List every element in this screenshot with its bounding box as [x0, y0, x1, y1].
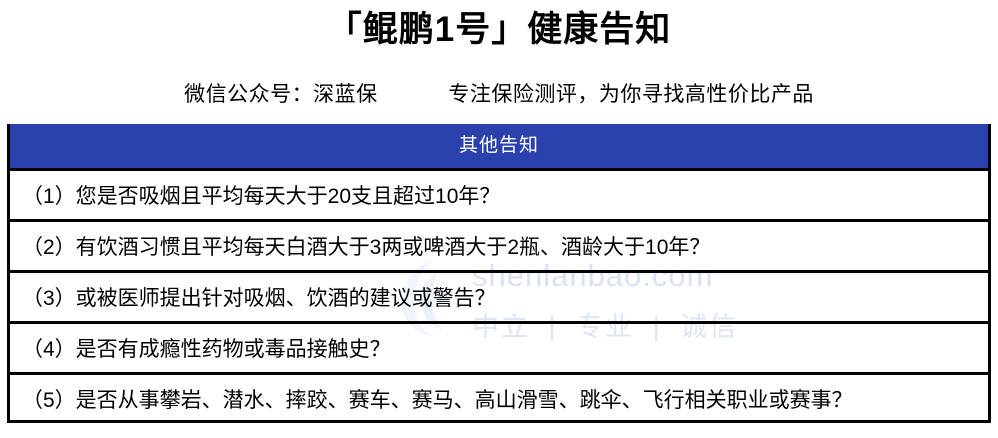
page-title: 「鲲鹏1号」健康告知	[0, 8, 998, 52]
table-row: （3）或被医师提出针对吸烟、饮酒的建议或警告？	[10, 270, 988, 321]
subtitle-tagline: 专注保险测评，为你寻找高性价比产品	[448, 83, 814, 106]
table-header: 其他告知	[10, 124, 988, 168]
table-row: （4）是否有成瘾性药物或毒品接触史？	[10, 321, 988, 372]
table-row: （2）有饮酒习惯且平均每天白酒大于3两或啤酒大于2瓶、酒龄大于10年？	[10, 219, 988, 270]
disclosure-table: 其他告知 （1）您是否吸烟且平均每天大于20支且超过10年？ （2）有饮酒习惯且…	[7, 124, 991, 423]
subtitle-account: 微信公众号：深蓝保	[184, 83, 378, 106]
health-disclosure-page: shenlanbao.com 中立 | 专业 | 诚信 「鲲鹏1号」健康告知 微…	[0, 0, 998, 438]
table-row: （1）您是否吸烟且平均每天大于20支且超过10年？	[10, 168, 988, 219]
table-row: （5）是否从事攀岩、潜水、摔跤、赛车、赛马、高山滑雪、跳伞、飞行相关职业或赛事？	[10, 372, 988, 423]
subtitle: 微信公众号：深蓝保 专注保险测评，为你寻找高性价比产品	[0, 80, 998, 110]
